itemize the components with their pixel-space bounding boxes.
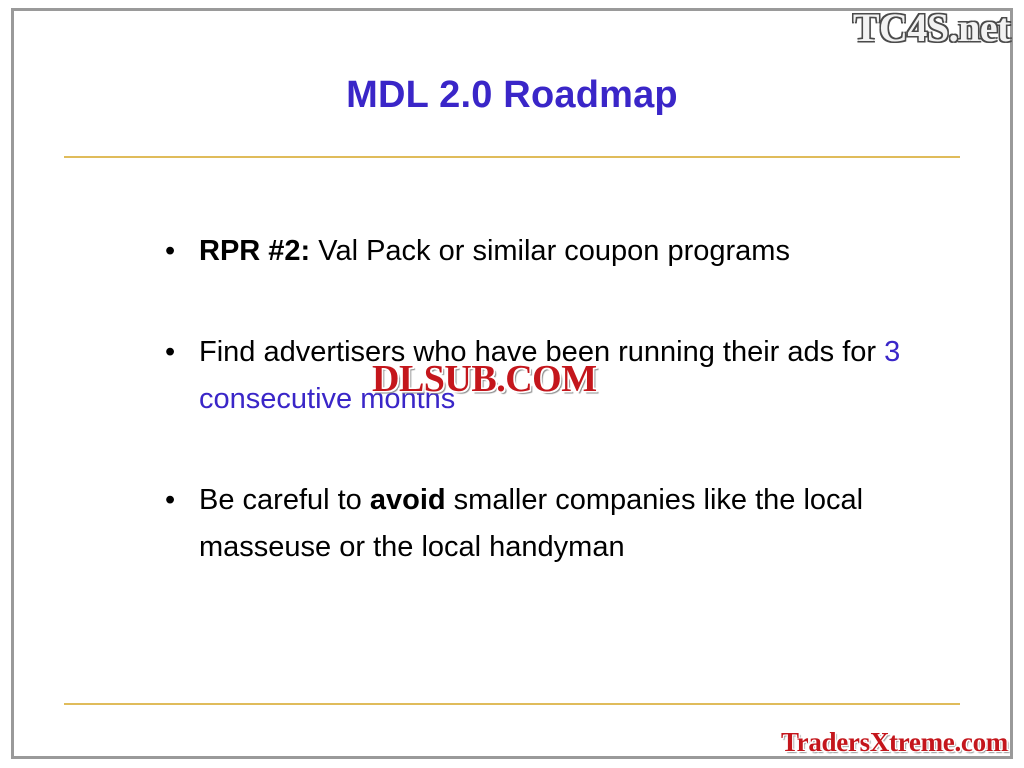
page-title: MDL 2.0 Roadmap (0, 74, 1024, 117)
bullet-1-segment-body: Val Pack or similar coupon programs (310, 235, 790, 267)
divider-top (64, 156, 960, 158)
watermark-bottom-right: TradersXtreme.com (781, 727, 1008, 758)
bullet-3-segment-emphasis: avoid (370, 484, 446, 516)
bullet-text-1: RPR #2: Val Pack or similar coupon progr… (199, 228, 945, 275)
list-item: • Be careful to avoid smaller companies … (155, 477, 945, 571)
bullet-text-3: Be careful to avoid smaller companies li… (199, 477, 945, 571)
bullet-marker: • (155, 228, 199, 275)
bullet-marker: • (155, 477, 199, 524)
bullet-1-segment-label: RPR #2: (199, 235, 310, 267)
watermark-top-right: TC4S.net (853, 4, 1010, 51)
bullet-3-segment-lead: Be careful to (199, 484, 370, 516)
list-item: • RPR #2: Val Pack or similar coupon pro… (155, 228, 945, 275)
bullet-marker: • (155, 329, 199, 376)
divider-bottom (64, 703, 960, 705)
slide-canvas: TC4S.net MDL 2.0 Roadmap • RPR #2: Val P… (0, 0, 1024, 768)
watermark-center-stamp: DLSUB.COM (372, 357, 597, 401)
